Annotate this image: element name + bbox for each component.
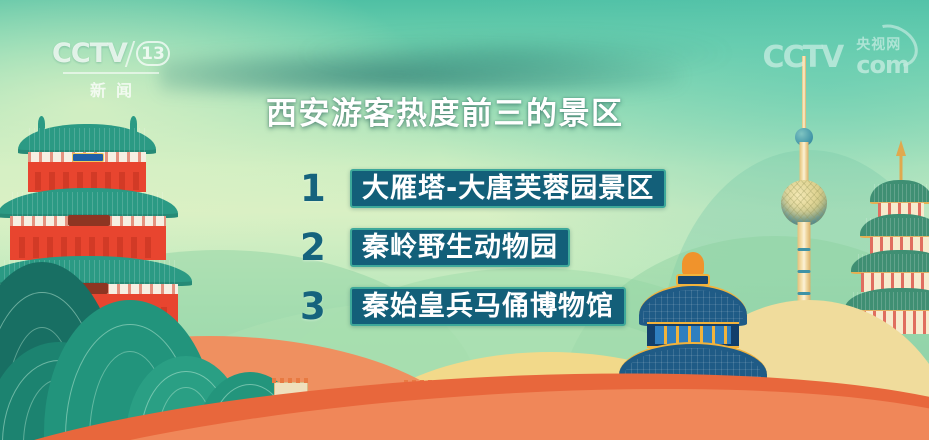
logo-subtitle: 新闻 xyxy=(80,77,142,101)
attraction-name-box: 大雁塔-大唐芙蓉园景区 xyxy=(350,169,666,208)
attraction-name: 大雁塔-大唐芙蓉园景区 xyxy=(362,175,654,202)
cloud-mist-band-secondary xyxy=(300,36,730,70)
logo-channel-number: 13 xyxy=(136,41,170,66)
list-item: 2 秦岭野生动物园 xyxy=(300,223,666,271)
attraction-name: 秦岭野生动物园 xyxy=(362,234,558,261)
list-item: 3 秦始皇兵马俑博物馆 xyxy=(300,282,666,330)
attraction-name-box: 秦岭野生动物园 xyxy=(350,228,570,267)
tower-rung xyxy=(798,292,811,295)
tower-rung xyxy=(798,270,811,273)
logo-underline xyxy=(63,72,159,74)
attraction-name-box: 秦始皇兵马俑博物馆 xyxy=(350,287,626,326)
pagoda-body-mid xyxy=(10,226,166,260)
rank-number: 2 xyxy=(300,229,350,266)
pagoda-roof-top xyxy=(18,124,156,154)
broadcast-graphic: CCTV 13 新闻 CCTV 央视网 com 西安游客热度前三的景区 1 大雁… xyxy=(0,0,929,440)
temple-golden-knob xyxy=(682,252,704,276)
wall-crenellation-1 xyxy=(272,378,310,383)
cctv-com-watermark: CCTV 央视网 com xyxy=(763,38,909,77)
list-item: 1 大雁塔-大唐芙蓉园景区 xyxy=(300,164,666,212)
pagoda-plaque xyxy=(72,153,104,162)
rank-number: 1 xyxy=(300,170,350,207)
cctv13-channel-logo: CCTV 13 新闻 xyxy=(52,38,170,101)
logo-brand-text: CCTV xyxy=(52,38,127,69)
pagoda-roof-3 xyxy=(851,250,929,274)
pagoda-roof-1 xyxy=(870,180,929,204)
pagoda-roof-mid xyxy=(0,188,178,218)
page-title: 西安游客热度前三的景区 xyxy=(266,88,624,133)
logo-main-row: CCTV 13 xyxy=(52,38,170,69)
tower-main-sphere xyxy=(781,180,827,226)
attraction-name: 秦始皇兵马俑博物馆 xyxy=(362,293,614,320)
ranking-list: 1 大雁塔-大唐芙蓉园景区 2 秦岭野生动物园 3 秦始皇兵马俑博物馆 xyxy=(300,164,666,341)
pagoda-roof-2 xyxy=(860,214,929,238)
tower-rung xyxy=(798,248,811,251)
watermark-brand-text: CCTV xyxy=(763,40,843,75)
pagoda-signboard-mid xyxy=(68,215,110,226)
rank-number: 3 xyxy=(300,288,350,325)
